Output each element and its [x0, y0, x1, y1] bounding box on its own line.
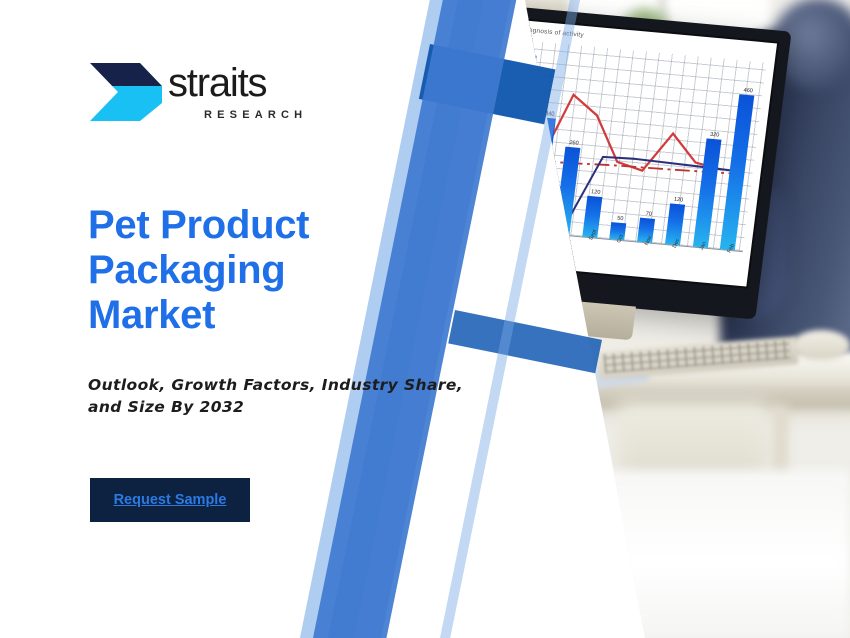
page-subtitle: Outlook, Growth Factors, Industry Share,… [88, 374, 488, 418]
logo-subtitle: RESEARCH [204, 109, 307, 121]
photo-foreground-surface [420, 470, 850, 638]
subtitle-line-1: Outlook, Growth Factors, Industry Share, [88, 376, 463, 394]
title-line-2: Packaging [88, 248, 285, 292]
title-line-3: Market [88, 293, 215, 337]
accent-band-dark-lower [448, 310, 602, 373]
brand-logo[interactable]: straits RESEARCH [88, 57, 338, 133]
chevron-arrow-logo-icon [88, 59, 162, 129]
photo-mouse [792, 330, 850, 360]
chart-x-tick-label: June [505, 221, 515, 234]
request-sample-label: Request Sample [114, 492, 227, 508]
request-sample-button[interactable]: Request Sample [90, 478, 250, 522]
chart-x-tick-label: May [477, 220, 487, 232]
logo-wordmark: straits [168, 63, 266, 103]
chart-x-tick-label: July [533, 225, 543, 236]
title-line-1: Pet Product [88, 203, 309, 247]
market-report-banner: Data and prognosis of activity 440520340… [0, 0, 850, 638]
subtitle-line-2: and Size By 2032 [88, 398, 244, 416]
chart-bar-label: 520 [517, 46, 544, 54]
page-title: Pet Product Packaging Market [88, 203, 418, 339]
chart-x-tick-label: Aug [561, 228, 571, 239]
photo-desk-leg-left [580, 404, 596, 514]
